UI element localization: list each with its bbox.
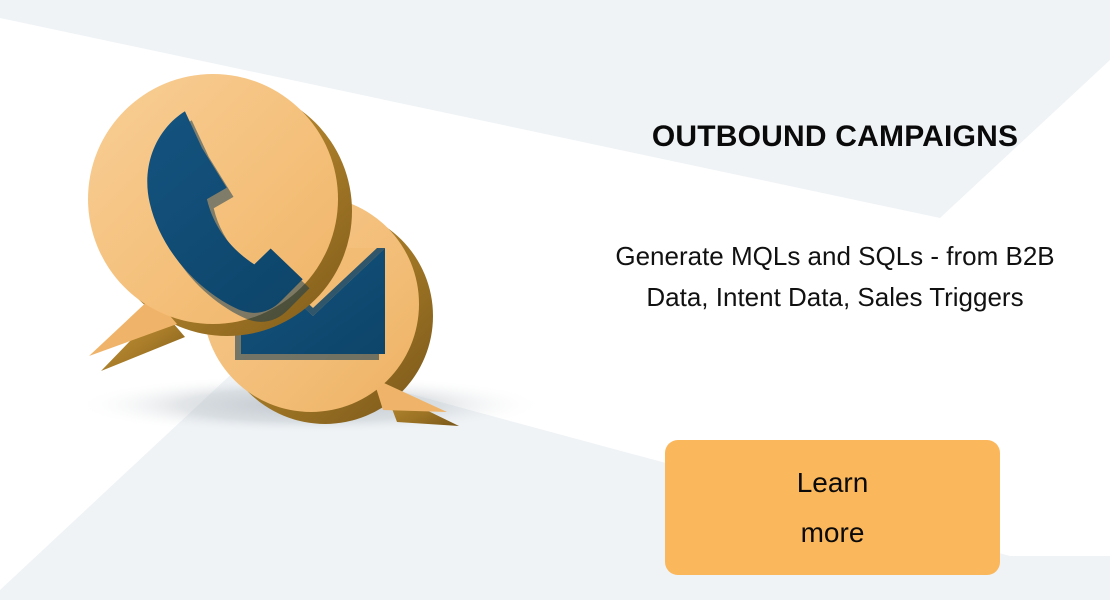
page-title: OUTBOUND CAMPAIGNS <box>560 118 1110 156</box>
subtitle-text: Generate MQLs and SQLs - from B2B Data, … <box>590 236 1080 318</box>
learn-more-label-line2: more <box>801 508 865 558</box>
learn-more-button[interactable]: Learn more <box>665 440 1000 575</box>
illustration-speech-bubbles <box>55 60 575 440</box>
content-column: OUTBOUND CAMPAIGNS Generate MQLs and SQL… <box>560 0 1110 600</box>
outbound-campaigns-banner: OUTBOUND CAMPAIGNS Generate MQLs and SQL… <box>0 0 1110 600</box>
learn-more-label-line1: Learn <box>797 458 869 508</box>
